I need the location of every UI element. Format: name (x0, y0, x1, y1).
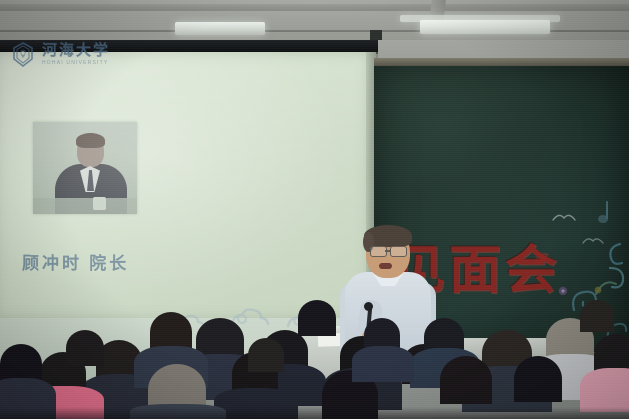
audience-head (66, 330, 104, 366)
music-note-chalk-icon (592, 200, 612, 226)
fluorescent-lamp-icon (420, 20, 550, 34)
bird-chalk-icon (551, 210, 577, 224)
lecture-hall-photo: 河海大学 HOHAI UNIVERSITY 顾冲时 院长 (0, 0, 629, 419)
ceiling-rail (0, 4, 629, 11)
foreground-shadow (0, 407, 629, 419)
fluorescent-lamp-icon (175, 22, 265, 35)
microphone-head-icon (364, 302, 373, 311)
audience-shoulders (580, 368, 629, 412)
glasses-icon (370, 246, 387, 257)
audience-head (298, 300, 336, 336)
audience-shoulders (352, 346, 414, 382)
audience-head (514, 356, 562, 402)
audience-head (580, 300, 614, 332)
audience-head (440, 356, 492, 404)
speaker-mouth (379, 263, 392, 269)
audience-head (248, 338, 284, 372)
glasses-bridge (385, 250, 390, 252)
screen-light-glow (0, 52, 376, 320)
glasses-icon (390, 246, 407, 257)
